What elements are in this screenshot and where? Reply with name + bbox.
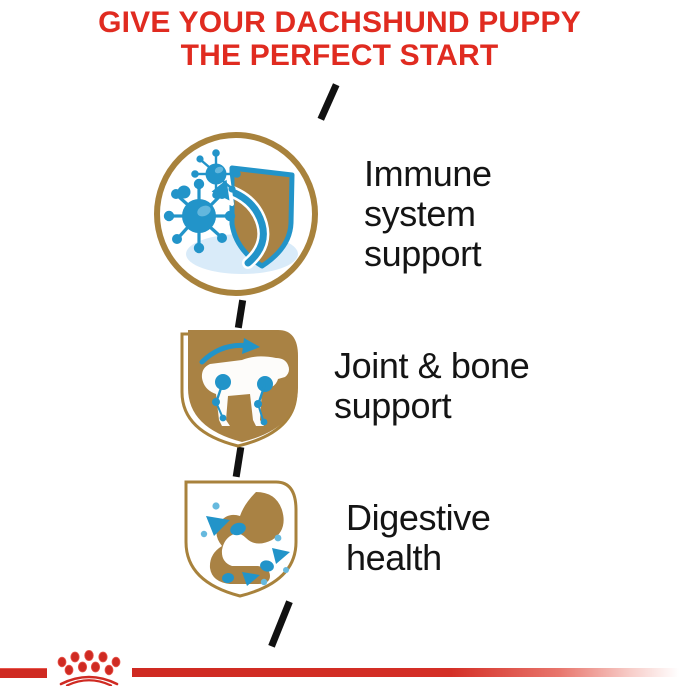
feature-label-digestive: Digestive health: [346, 498, 490, 578]
joint-bone-dog-icon: [172, 320, 304, 452]
feature-label-line-2: system: [364, 194, 492, 234]
feature-label-immune: Immune system support: [364, 154, 492, 274]
feature-label-line-2: health: [346, 538, 490, 578]
feature-row-immune: Immune system support: [150, 128, 650, 300]
immune-shield-icon: [150, 128, 322, 300]
royal-canin-paw-crown-logo: [49, 650, 129, 686]
feature-row-joint-bone: Joint & bone support: [150, 320, 650, 452]
feature-label-line-1: Digestive: [346, 498, 490, 538]
connector-dash-top: [318, 83, 340, 121]
feature-row-digestive: Digestive health: [150, 472, 650, 604]
product-feature-panel: GIVE YOUR DACHSHUND PUPPY THE PERFECT ST…: [0, 0, 679, 686]
brand-bar-left-segment: [0, 668, 47, 678]
feature-label-line-2: support: [334, 386, 529, 426]
feature-label-line-3: support: [364, 234, 492, 274]
brand-footer-bar: [0, 662, 679, 686]
page-title: GIVE YOUR DACHSHUND PUPPY THE PERFECT ST…: [0, 6, 679, 72]
digestive-stomach-icon: [172, 472, 304, 604]
feature-label-joint-bone: Joint & bone support: [334, 346, 529, 426]
brand-bar-right-segment: [132, 668, 679, 677]
connector-dash-bottom: [268, 600, 292, 647]
feature-label-line-1: Joint & bone: [334, 346, 529, 386]
headline-line-2: THE PERFECT START: [0, 39, 679, 72]
headline-line-1: GIVE YOUR DACHSHUND PUPPY: [0, 6, 679, 39]
feature-label-line-1: Immune: [364, 154, 492, 194]
